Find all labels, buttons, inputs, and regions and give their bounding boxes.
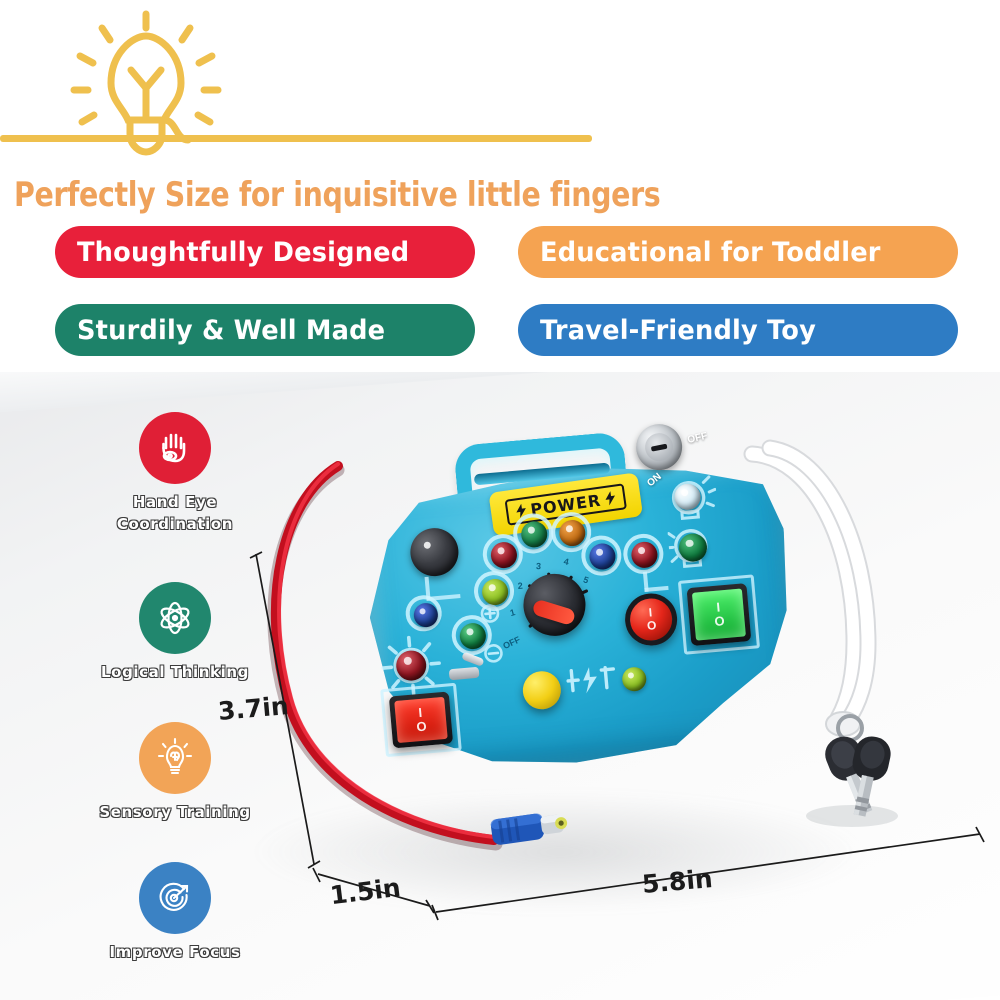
badge-travel-friendly-toy[interactable]: Travel-Friendly Toy <box>518 304 958 356</box>
page-headline: Perfectly Size for inquisitive little fi… <box>14 175 851 215</box>
badge-thoughtfully-designed[interactable]: Thoughtfully Designed <box>55 226 475 278</box>
header-divider-rule <box>0 135 592 142</box>
badge-label: Thoughtfully Designed <box>77 237 409 268</box>
dimension-height-label: 3.7in <box>217 691 290 726</box>
header-icon-block <box>0 0 1000 160</box>
dimension-width-label: 5.8in <box>641 864 714 899</box>
dimension-lines <box>0 372 1000 1000</box>
feature-badge-row: Thoughtfully Designed Educational for To… <box>0 226 1000 371</box>
badge-label: Educational for Toddler <box>540 237 881 268</box>
badge-label: Travel-Friendly Toy <box>540 315 816 346</box>
badge-educational-for-toddler[interactable]: Educational for Toddler <box>518 226 958 278</box>
badge-sturdily-well-made[interactable]: Sturdily & Well Made <box>55 304 475 356</box>
product-photo-area: Hand Eye Coordination Logical Thinking <box>0 372 1000 1000</box>
badge-label: Sturdily & Well Made <box>77 315 385 346</box>
